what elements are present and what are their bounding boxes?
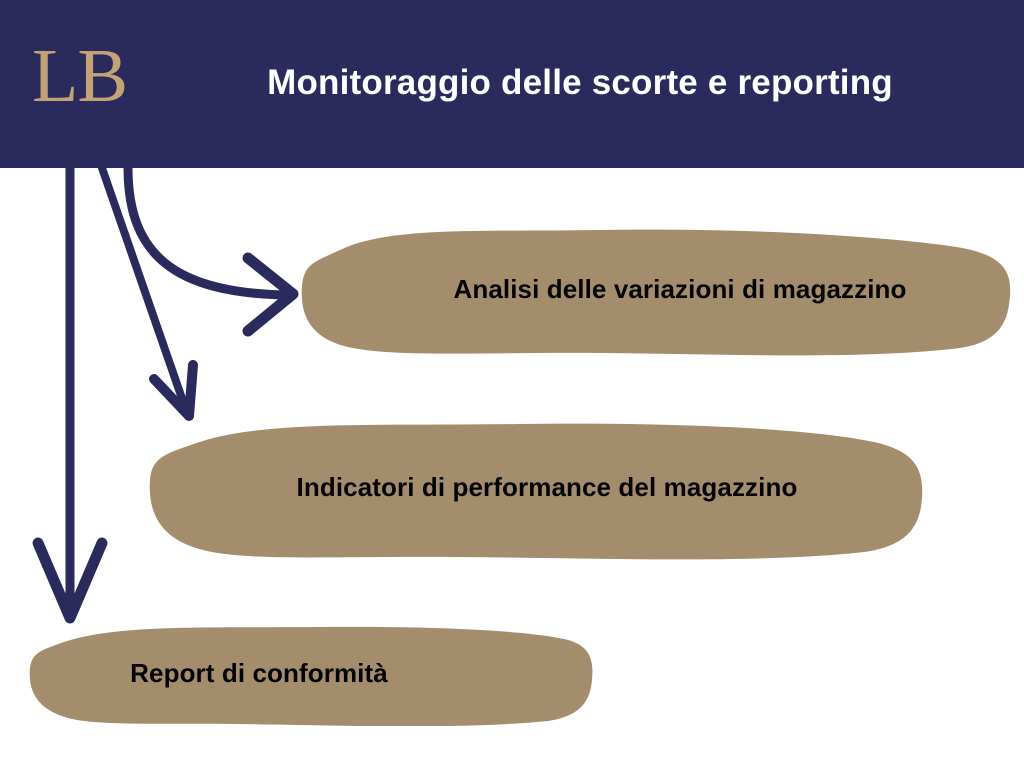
page-title: Monitoraggio delle scorte e reporting — [170, 52, 990, 114]
flow-node-3[interactable]: Report di conformità — [28, 620, 594, 726]
brand-logo: LB — [32, 34, 142, 118]
flow-node-1[interactable]: Analisi delle variazioni di magazzino — [300, 220, 1012, 358]
connector-curved-arrow — [128, 168, 293, 331]
flow-node-3-label: Report di conformità — [28, 658, 594, 689]
connector-vertical-arrow — [38, 168, 102, 618]
flow-node-2-label: Indicatori di performance del magazzino — [148, 472, 924, 503]
connector-diagonal-arrow — [102, 168, 193, 416]
flow-node-1-label: Analisi delle variazioni di magazzino — [300, 274, 1012, 305]
slide-canvas: LB Monitoraggio delle scorte e reporting… — [0, 0, 1024, 768]
flow-node-2[interactable]: Indicatori di performance del magazzino — [148, 412, 924, 562]
header-band: LB Monitoraggio delle scorte e reporting — [0, 0, 1024, 168]
